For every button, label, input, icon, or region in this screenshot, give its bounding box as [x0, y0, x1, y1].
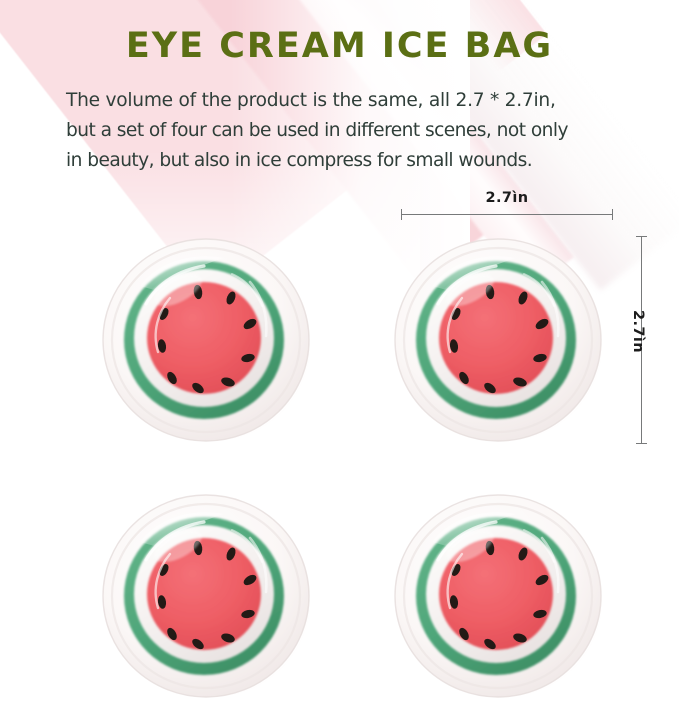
watermelon-ice-pack-2	[392, 234, 604, 446]
watermelon-ice-pack-1	[100, 234, 312, 446]
description-line-3: in beauty, but also in ice compress for …	[66, 146, 666, 176]
height-dimension-label: 2.7ìn	[630, 310, 646, 353]
description-line-1: The volume of the product is the same, a…	[66, 86, 666, 116]
watermelon-ice-pack-4	[392, 490, 604, 702]
product-description: The volume of the product is the same, a…	[66, 86, 666, 176]
width-dimension-line	[401, 214, 613, 215]
product-infographic: EYE CREAM ICE BAG The volume of the prod…	[0, 0, 679, 703]
watermelon-ice-pack-3	[100, 490, 312, 702]
width-dimension-label: 2.7ìn	[401, 190, 613, 206]
description-line-2: but a set of four can be used in differe…	[66, 116, 666, 146]
page-title: EYE CREAM ICE BAG	[0, 26, 679, 66]
